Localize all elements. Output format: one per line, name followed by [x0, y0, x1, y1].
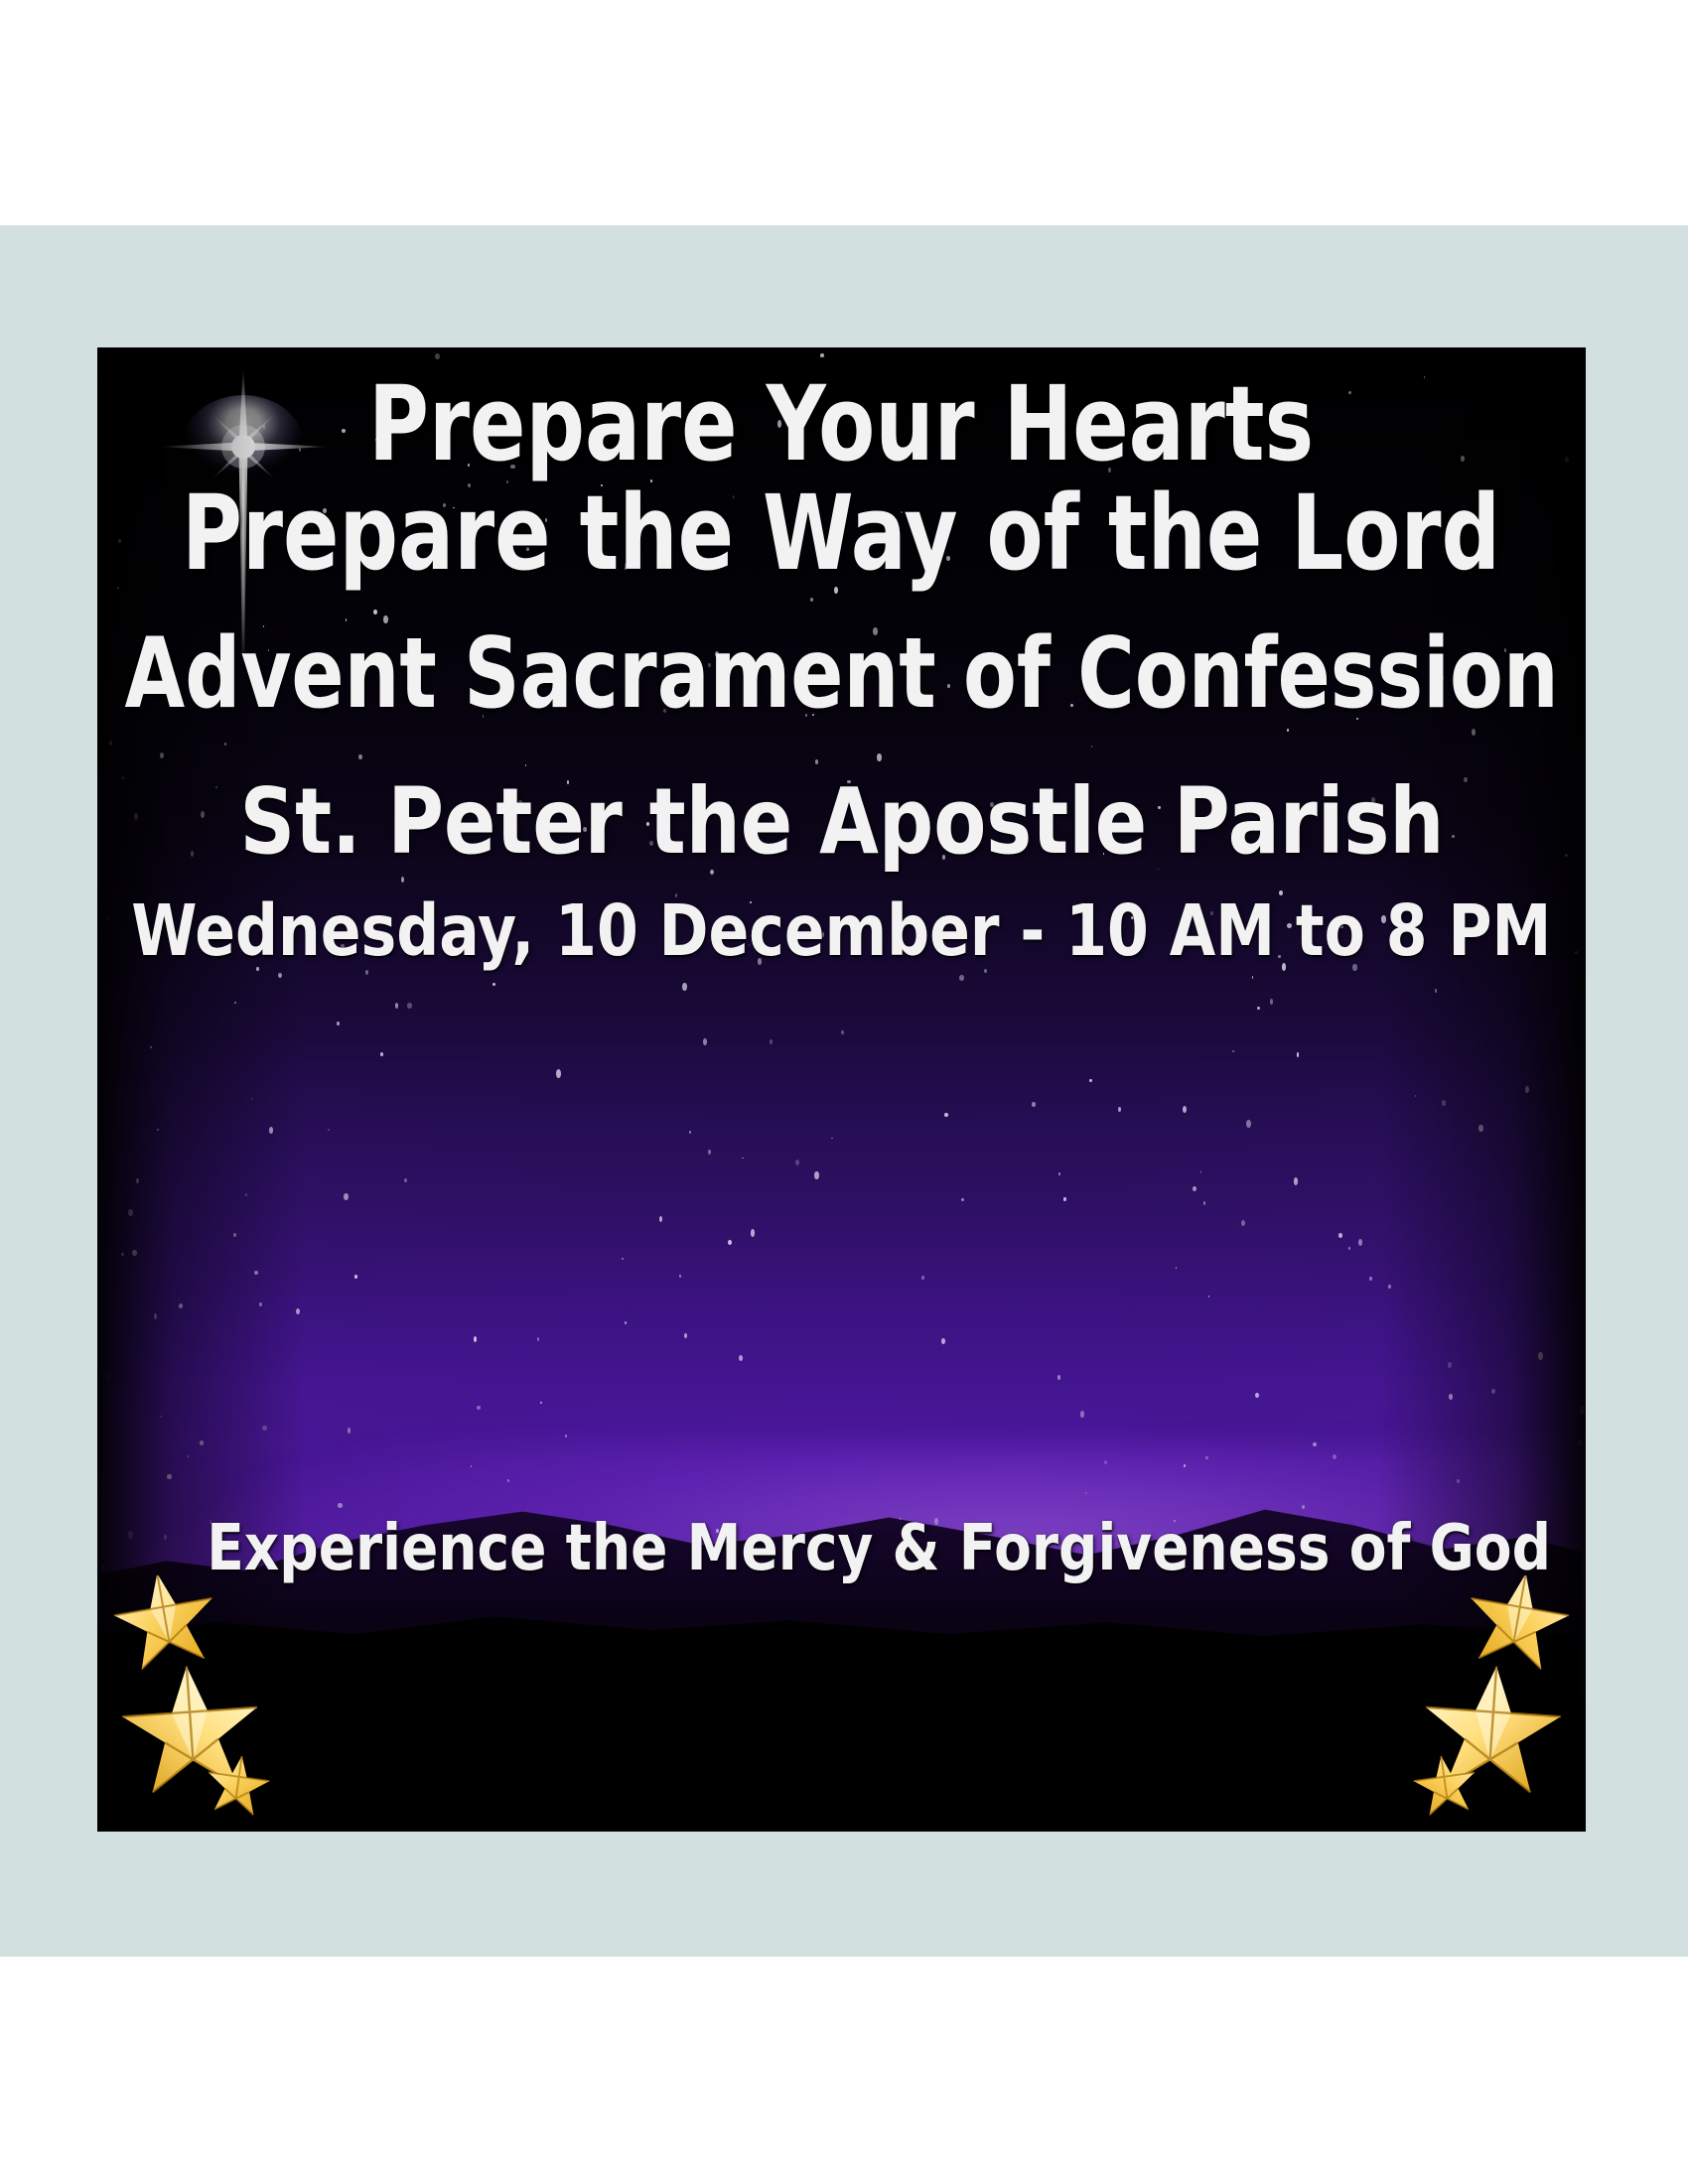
poster-headline: Advent Sacrament of Confession	[97, 627, 1586, 721]
line-tagline: Experience the Mercy & Forgiveness of Go…	[97, 1519, 1586, 1579]
page-root: Prepare Your Hearts Prepare the Way of t…	[0, 0, 1688, 2184]
line-date-time-text: Wednesday, 10 December - 10 AM to 8 PM	[131, 897, 1551, 966]
line-parish-name-text: St. Peter the Apostle Parish	[239, 778, 1444, 866]
line-date-time: Wednesday, 10 December - 10 AM to 8 PM	[97, 897, 1586, 966]
line-prepare-way: Prepare the Way of the Lord	[97, 484, 1586, 584]
advent-confession-poster: Prepare Your Hearts Prepare the Way of t…	[97, 347, 1586, 1832]
line-prepare-hearts: Prepare Your Hearts	[250, 375, 1432, 475]
line-parish-name: St. Peter the Apostle Parish	[125, 778, 1559, 866]
line-tagline-text: Experience the Mercy & Forgiveness of Go…	[207, 1519, 1551, 1579]
line-prepare-hearts-text: Prepare Your Hearts	[368, 375, 1314, 475]
poster-headline-text: Advent Sacrament of Confession	[124, 627, 1558, 721]
poster-copy: Prepare Your Hearts Prepare the Way of t…	[97, 347, 1586, 1832]
line-prepare-way-text: Prepare the Way of the Lord	[182, 484, 1500, 584]
